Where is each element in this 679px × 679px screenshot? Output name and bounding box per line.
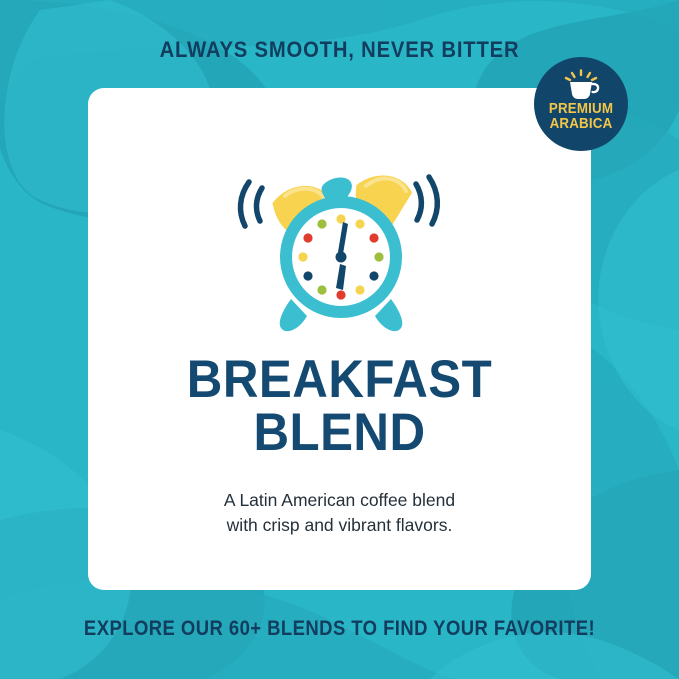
product-poster: ALWAYS SMOOTH, NEVER BITTER	[0, 0, 679, 679]
alarm-clock-icon	[225, 144, 455, 339]
description-line1: A Latin American coffee blend	[224, 490, 455, 510]
product-title-line2: BLEND	[106, 406, 574, 459]
footer-cta-text: EXPLORE OUR 60+ BLENDS TO FIND YOUR FAVO…	[41, 617, 639, 641]
coffee-cup-icon	[559, 69, 603, 101]
page-title: BREAKFAST BLEND	[106, 353, 574, 459]
product-card: BREAKFAST BLEND A Latin American coffee …	[88, 88, 591, 590]
product-title-line1: BREAKFAST	[187, 350, 492, 409]
badge-line2: ARABICA	[538, 117, 624, 132]
badge-label: PREMIUM ARABICA	[538, 102, 624, 132]
badge-line1: PREMIUM	[549, 101, 613, 117]
status-badge: PREMIUM ARABICA	[534, 57, 628, 151]
product-description: A Latin American coffee blend with crisp…	[88, 488, 591, 538]
description-line2: with crisp and vibrant flavors.	[88, 513, 591, 538]
